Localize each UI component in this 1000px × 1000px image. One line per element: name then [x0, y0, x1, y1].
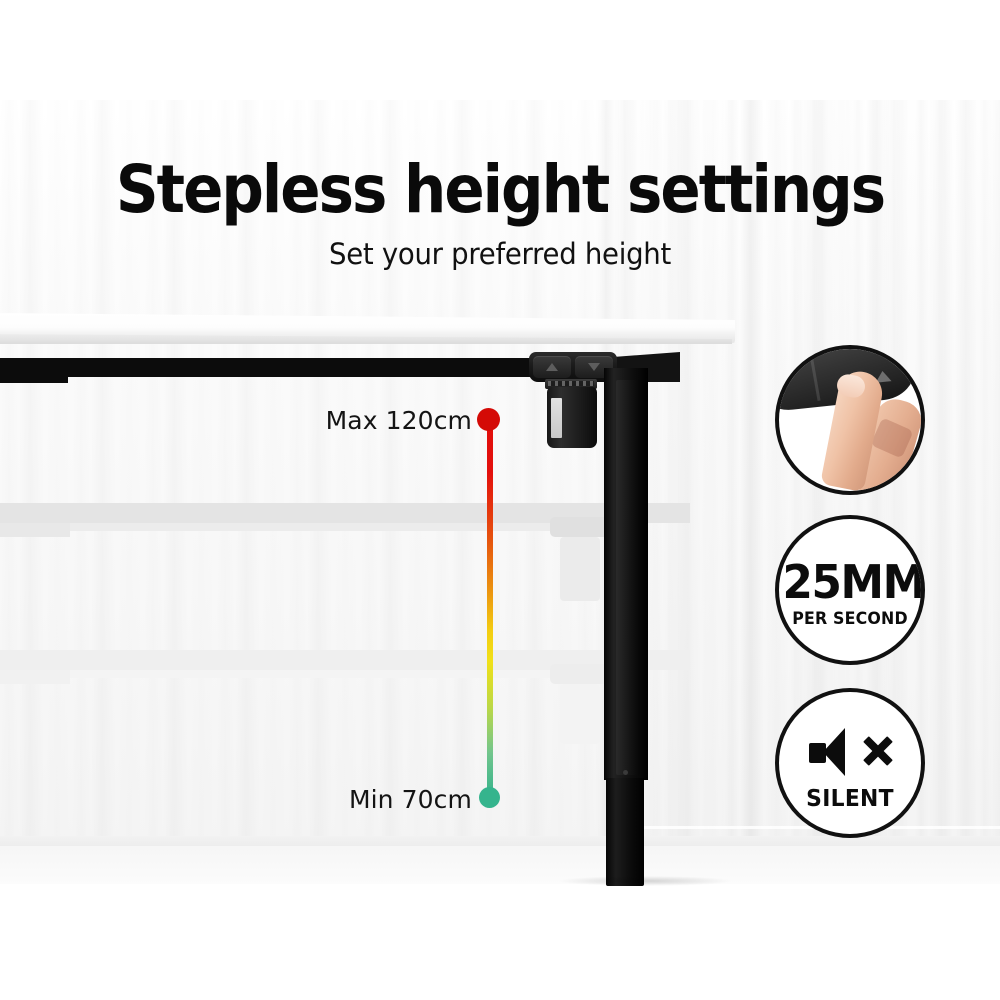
speaker-mute-icon: [809, 728, 857, 776]
badge-speed: 25MM PER SECOND: [775, 515, 925, 665]
ghost-desk-step-2: [0, 503, 690, 623]
height-range-gradient-bar: [487, 419, 493, 798]
page-subtitle: Set your preferred height: [25, 236, 975, 272]
motor-label-sticker: [551, 398, 562, 438]
leg-screw: [623, 770, 628, 775]
ghost-motor: [560, 537, 600, 601]
desk-frame-beam: [0, 358, 610, 377]
min-height-marker-dot: [479, 787, 500, 808]
background-foreground-white: [0, 884, 1000, 1000]
ghost-frame-lip: [0, 670, 70, 684]
badge-speed-unit: PER SECOND: [784, 609, 916, 629]
min-height-label: Min 70cm: [349, 785, 472, 814]
controller-up-button[interactable]: [533, 356, 571, 378]
max-height-label: Max 120cm: [326, 406, 472, 435]
desk-frame-lip: [0, 374, 68, 383]
page-title: Stepless height settings: [50, 152, 950, 228]
ghost-frame-lip: [0, 523, 70, 537]
max-height-marker-dot: [477, 408, 500, 431]
ghost-desk-step-3: [0, 650, 690, 770]
badge-one-touch-control: [775, 345, 925, 495]
ghost-motor: [560, 684, 600, 744]
leg-column-face: [616, 380, 640, 775]
arrow-up-icon: [546, 363, 558, 371]
arrow-down-icon: [588, 363, 600, 371]
badge-silent: SILENT: [775, 688, 925, 838]
leg-floor-shadow: [560, 876, 730, 886]
speaker-cone: [823, 728, 845, 776]
motor-vents: [548, 381, 594, 386]
background-floor: [0, 846, 1000, 886]
leg-column-lower: [606, 778, 644, 886]
ghost-frame-beam: [0, 523, 600, 531]
badge-speed-value: 25MM: [783, 557, 918, 607]
mute-cross-icon: [861, 734, 895, 768]
product-banner: Stepless height settings Set your prefer…: [0, 0, 1000, 1000]
ghost-frame-beam: [0, 670, 600, 678]
controller-seam: [808, 347, 820, 401]
badge-silent-label: SILENT: [783, 786, 918, 812]
